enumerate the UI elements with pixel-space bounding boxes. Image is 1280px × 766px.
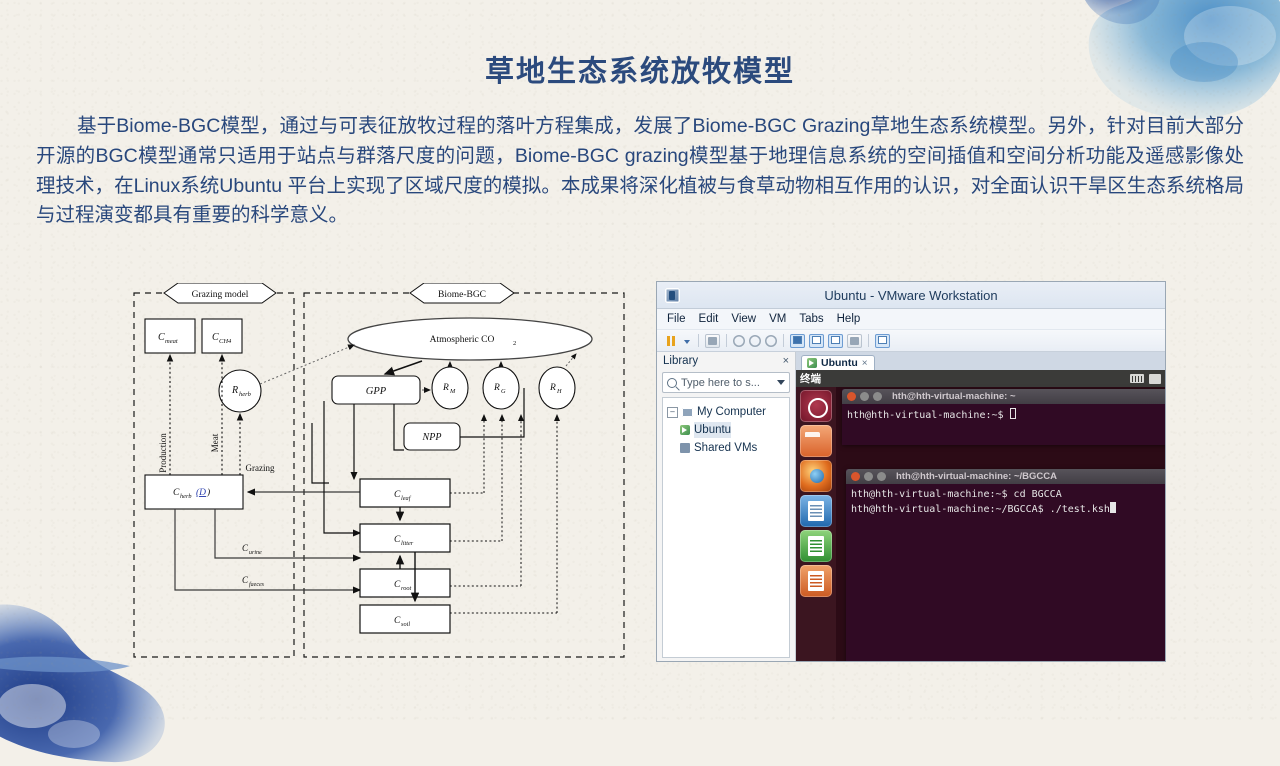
node-gpp-label: GPP xyxy=(366,386,387,397)
node-c-leaf-sub: leaf xyxy=(401,495,412,502)
vmware-menubar[interactable]: File Edit View VM Tabs Help xyxy=(657,309,1165,330)
tree-item-label: Ubuntu xyxy=(694,422,731,438)
node-c-litter-sub: litter xyxy=(401,540,414,547)
desktop-surface[interactable]: hth@hth-virtual-machine: ~ hth@hth-virtu… xyxy=(836,387,1165,661)
show-library-icon[interactable] xyxy=(790,334,805,348)
show-thumbnail-bar-icon[interactable] xyxy=(809,334,824,348)
edge-label-grazing: Grazing xyxy=(246,463,275,473)
terminal-window-bgcca[interactable]: hth@hth-virtual-machine: ~/BGCCA hth@hth… xyxy=(846,469,1165,661)
edge-label-c-faeces: C xyxy=(242,575,249,585)
node-r-g-label: R xyxy=(493,383,500,393)
terminal-cursor xyxy=(1010,408,1016,419)
guest-area: hth@hth-virtual-machine: ~ hth@hth-virtu… xyxy=(796,387,1165,661)
maximize-icon[interactable] xyxy=(873,392,882,401)
computer-icon xyxy=(682,408,693,417)
node-c-litter-label: C xyxy=(394,535,401,545)
node-c-litter xyxy=(360,524,450,552)
grazing-model-diagram: Grazing model Biome-BGC C meat C CH4 R h… xyxy=(132,283,627,661)
vmware-body: Library × Type here to s... – My Compute… xyxy=(657,352,1165,661)
terminal-cursor xyxy=(1110,502,1116,513)
terminal-line: hth@hth-virtual-machine:~$ cd BGCCA xyxy=(851,489,1062,500)
fullscreen-icon[interactable] xyxy=(875,334,890,348)
node-c-ch4 xyxy=(202,319,242,353)
snapshot-manager-icon[interactable] xyxy=(765,335,777,347)
node-r-herb-sub: herb xyxy=(239,391,252,398)
library-title: Library xyxy=(663,355,698,367)
vmware-titlebar: Ubuntu - VMware Workstation xyxy=(657,282,1165,309)
library-header: Library × xyxy=(657,352,795,370)
node-r-h-label: R xyxy=(549,383,556,393)
keyboard-layout-icon[interactable] xyxy=(1130,374,1144,383)
library-panel: Library × Type here to s... – My Compute… xyxy=(657,352,796,661)
vmware-window-title: Ubuntu - VMware Workstation xyxy=(657,288,1165,303)
node-r-g-sub: G xyxy=(501,388,506,395)
page-title: 草地生态系统放牧模型 xyxy=(0,48,1280,90)
tab-ubuntu[interactable]: Ubuntu × xyxy=(801,355,875,370)
node-atmos-sub: 2 xyxy=(513,340,516,347)
node-c-meat-sub: meat xyxy=(165,338,178,345)
node-c-leaf xyxy=(360,479,450,507)
tab-label: Ubuntu xyxy=(821,357,858,369)
node-r-herb-label: R xyxy=(231,385,238,396)
unity-mode-icon[interactable] xyxy=(847,334,862,348)
node-c-herb-arg2: ) xyxy=(206,487,210,498)
node-r-h-sub: H xyxy=(556,388,562,395)
terminal-line: hth@hth-virtual-machine:~$ xyxy=(847,410,1010,421)
libreoffice-impress-icon[interactable] xyxy=(800,565,832,597)
close-icon[interactable]: × xyxy=(862,358,868,369)
edge-label-c-faeces-sub: faeces xyxy=(249,581,265,588)
terminal-title: hth@hth-virtual-machine: ~/BGCCA xyxy=(896,471,1057,482)
chevron-down-icon[interactable] xyxy=(777,380,785,385)
edge-label-production: Production xyxy=(158,433,168,473)
node-c-soil-label: C xyxy=(394,616,401,626)
menu-item-file[interactable]: File xyxy=(667,313,686,325)
unity-indicators[interactable] xyxy=(1130,374,1161,384)
node-c-leaf-label: C xyxy=(394,490,401,500)
vmware-toolbar[interactable] xyxy=(657,330,1165,352)
unity-panel-title: 终端 xyxy=(800,371,821,386)
close-icon[interactable] xyxy=(851,472,860,481)
terminal-titlebar[interactable]: hth@hth-virtual-machine: ~ xyxy=(842,389,1165,404)
vm-console-area: Ubuntu × 终端 xyxy=(796,352,1165,661)
expander-icon[interactable]: – xyxy=(667,407,678,418)
search-icon xyxy=(667,378,677,388)
menu-item-view[interactable]: View xyxy=(731,313,756,325)
suspend-icon[interactable] xyxy=(664,334,679,348)
vm-icon xyxy=(807,358,817,368)
revert-snapshot-icon[interactable] xyxy=(749,335,761,347)
node-r-m-label: R xyxy=(442,383,449,393)
minimize-icon[interactable] xyxy=(860,392,869,401)
shared-vms-icon xyxy=(680,443,690,453)
node-atmos-label: Atmospheric CO xyxy=(430,335,495,345)
node-npp-label: NPP xyxy=(422,432,442,443)
node-c-ch4-sub: CH4 xyxy=(219,338,232,345)
node-c-root-sub: root xyxy=(401,585,412,592)
minimize-icon[interactable] xyxy=(864,472,873,481)
close-icon[interactable] xyxy=(847,392,856,401)
node-c-herb-sub: herb xyxy=(180,493,192,500)
tree-item-ubuntu[interactable]: Ubuntu xyxy=(667,421,785,439)
search-input[interactable]: Type here to s... xyxy=(681,377,773,389)
envelope-icon[interactable] xyxy=(1149,374,1161,384)
unity-launcher[interactable] xyxy=(796,387,836,661)
node-c-root xyxy=(360,569,450,597)
menu-item-vm[interactable]: VM xyxy=(769,313,786,325)
libreoffice-writer-icon[interactable] xyxy=(800,495,832,527)
firefox-icon[interactable] xyxy=(800,460,832,492)
terminal-output[interactable]: hth@hth-virtual-machine:~$ cd BGCCA hth@… xyxy=(846,484,1165,521)
node-c-herb xyxy=(145,475,243,509)
tree-item-label: My Computer xyxy=(697,404,766,420)
menu-item-tabs[interactable]: Tabs xyxy=(799,313,823,325)
biome-bgc-label: Biome-BGC xyxy=(438,290,486,300)
tree-item-my-computer[interactable]: – My Computer xyxy=(667,403,785,421)
terminal-output[interactable]: hth@hth-virtual-machine:~$ xyxy=(842,404,1165,427)
toolbar-separator xyxy=(868,334,869,347)
toolbar-separator xyxy=(726,334,727,347)
node-c-ch4-label: C xyxy=(212,332,219,343)
network-adapter-icon[interactable] xyxy=(705,334,720,348)
tree-item-shared-vms[interactable]: Shared VMs xyxy=(667,439,785,457)
terminal-window-home[interactable]: hth@hth-virtual-machine: ~ hth@hth-virtu… xyxy=(842,389,1165,445)
files-icon[interactable] xyxy=(800,425,832,457)
edge-label-c-urine-sub: urine xyxy=(249,550,262,556)
toolbar-separator xyxy=(698,334,699,347)
chevron-down-icon[interactable] xyxy=(683,334,692,348)
grazing-model-label: Grazing model xyxy=(192,290,249,300)
node-r-m-sub: M xyxy=(449,388,456,395)
guest-desktop[interactable]: 终端 xyxy=(796,370,1165,661)
library-search-box[interactable]: Type here to s... xyxy=(662,372,790,393)
node-c-soil xyxy=(360,605,450,633)
edge-label-c-urine: C xyxy=(242,543,249,553)
body-paragraph: 基于Biome-BGC模型，通过与可表征放牧过程的落叶方程集成，发展了Biome… xyxy=(36,112,1244,231)
menu-item-help[interactable]: Help xyxy=(837,313,861,325)
tree-item-label: Shared VMs xyxy=(694,440,757,456)
take-snapshot-icon[interactable] xyxy=(733,335,745,347)
node-c-soil-sub: soil xyxy=(401,621,410,628)
toolbar-separator xyxy=(783,334,784,347)
menu-item-edit[interactable]: Edit xyxy=(699,313,719,325)
ubuntu-dash-icon[interactable] xyxy=(800,390,832,422)
maximize-icon[interactable] xyxy=(877,472,886,481)
close-icon[interactable]: × xyxy=(783,355,789,367)
vm-tabstrip[interactable]: Ubuntu × xyxy=(796,352,1165,370)
vm-icon xyxy=(680,425,690,435)
terminal-titlebar[interactable]: hth@hth-virtual-machine: ~/BGCCA xyxy=(846,469,1165,484)
unity-top-panel[interactable]: 终端 xyxy=(796,370,1165,387)
node-c-meat xyxy=(145,319,195,353)
node-c-meat-label: C xyxy=(158,332,165,343)
libreoffice-calc-icon[interactable] xyxy=(800,530,832,562)
vmware-workstation-window[interactable]: Ubuntu - VMware Workstation File Edit Vi… xyxy=(657,282,1165,661)
node-c-herb-label: C xyxy=(173,488,180,498)
node-c-root-label: C xyxy=(394,580,401,590)
library-tree[interactable]: – My Computer Ubuntu Shared VMs xyxy=(662,397,790,658)
terminal-title: hth@hth-virtual-machine: ~ xyxy=(892,391,1016,402)
node-c-herb-arg: (D xyxy=(196,487,206,498)
show-console-view-icon[interactable] xyxy=(828,334,843,348)
edge-label-meat: Meat xyxy=(210,433,220,452)
diagram-svg: Grazing model Biome-BGC C meat C CH4 R h… xyxy=(132,283,627,661)
terminal-line: hth@hth-virtual-machine:~/BGCCA$ ./test.… xyxy=(851,504,1110,515)
